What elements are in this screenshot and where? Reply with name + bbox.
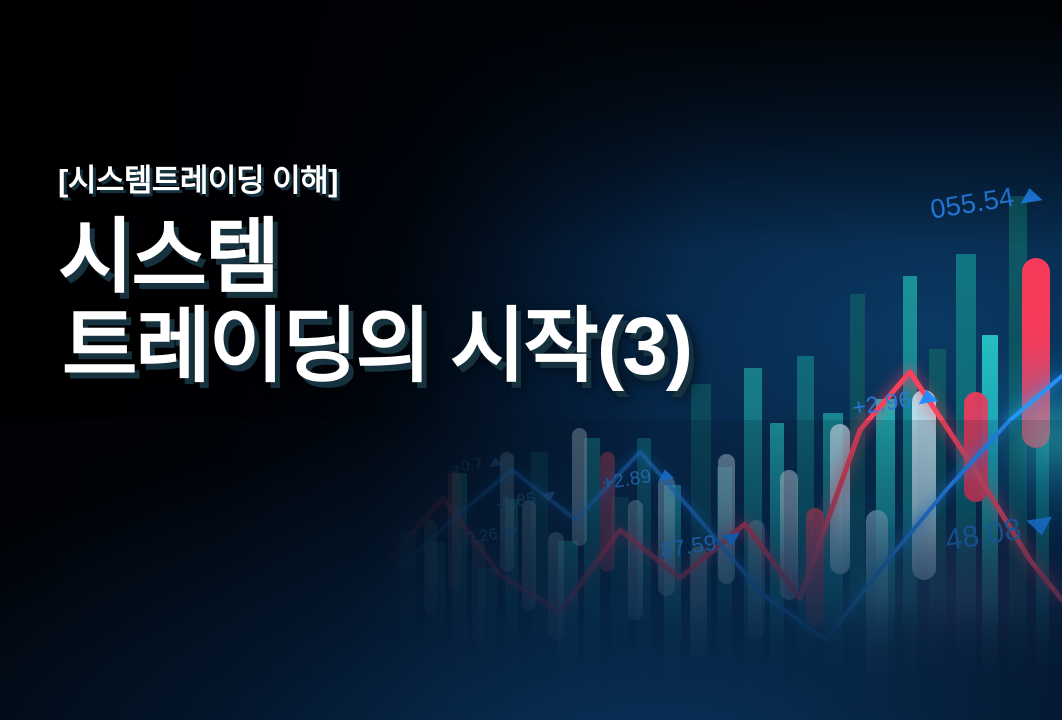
floor-glow [0, 420, 1062, 720]
banner-title-line-2: 트레이딩의 시작(3) [62, 303, 691, 392]
title-block: [시스템트레이딩 이해] 시스템 트레이딩의 시작(3) [58, 155, 691, 391]
banner-subtitle: [시스템트레이딩 이해] [58, 155, 691, 200]
banner-canvas: 055.54+2.96+2.8987.5948.08-0.85-0.26+0.7… [0, 0, 1062, 720]
banner-title-line-1: 시스템 [58, 214, 691, 303]
